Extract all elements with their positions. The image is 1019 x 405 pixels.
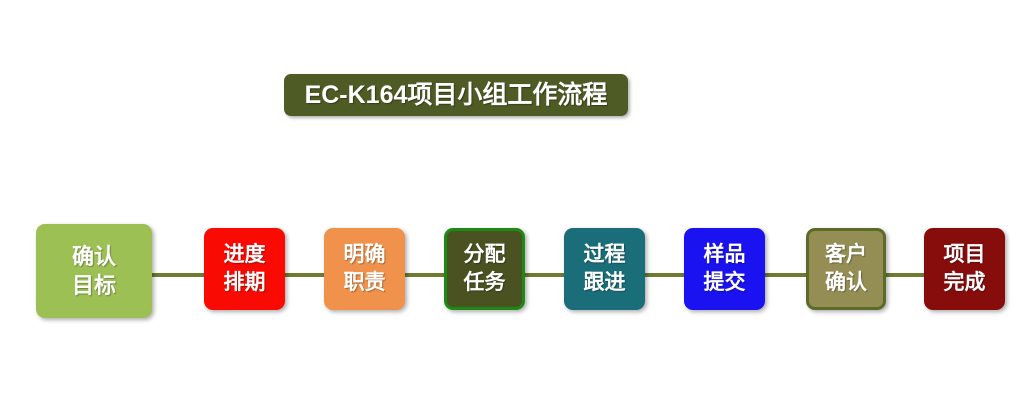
flow-node-project-complete[interactable]: 项目完成 bbox=[924, 228, 1005, 310]
connector-5-6 bbox=[645, 273, 685, 277]
flow-node-label-line1: 确认 bbox=[72, 242, 116, 271]
connector-7-8 bbox=[886, 273, 925, 277]
flow-node-label-line1: 客户 bbox=[825, 241, 867, 269]
flow-node-label-line2: 跟进 bbox=[584, 269, 626, 297]
flow-node-label-line1: 过程 bbox=[584, 241, 626, 269]
flow-node-label-line2: 确认 bbox=[825, 269, 867, 297]
flow-node-progress-schedule[interactable]: 进度排期 bbox=[204, 228, 285, 310]
diagram-canvas: EC-K164项目小组工作流程 确认目标进度排期明确职责分配任务过程跟进样品提交… bbox=[0, 0, 1019, 405]
flow-node-assign-task[interactable]: 分配任务 bbox=[444, 228, 525, 310]
flow-node-confirm-goal[interactable]: 确认目标 bbox=[36, 224, 152, 318]
flow-node-label-line2: 任务 bbox=[464, 269, 506, 297]
flow-node-label-line1: 进度 bbox=[224, 241, 266, 269]
flow-node-sample-submission[interactable]: 样品提交 bbox=[684, 228, 765, 310]
flow-node-label-line2: 提交 bbox=[704, 269, 746, 297]
flow-node-label-line1: 样品 bbox=[704, 241, 746, 269]
connector-4-5 bbox=[525, 273, 565, 277]
connector-2-3 bbox=[285, 273, 325, 277]
flow-node-process-followup[interactable]: 过程跟进 bbox=[564, 228, 645, 310]
flow-node-label-line1: 项目 bbox=[944, 241, 986, 269]
flow-node-label-line2: 职责 bbox=[344, 269, 386, 297]
flow-node-label-line1: 分配 bbox=[464, 241, 506, 269]
connector-3-4 bbox=[405, 273, 445, 277]
flow-node-label-line2: 排期 bbox=[224, 269, 266, 297]
flow-node-clarify-responsibility[interactable]: 明确职责 bbox=[324, 228, 405, 310]
connector-6-7 bbox=[765, 273, 807, 277]
flow-node-customer-confirmation[interactable]: 客户确认 bbox=[806, 228, 886, 310]
process-flow: 确认目标进度排期明确职责分配任务过程跟进样品提交客户确认项目完成 bbox=[0, 0, 1019, 405]
flow-node-label-line1: 明确 bbox=[344, 241, 386, 269]
connector-1-2 bbox=[151, 273, 205, 277]
flow-node-label-line2: 目标 bbox=[72, 271, 116, 300]
flow-node-label-line2: 完成 bbox=[944, 269, 986, 297]
